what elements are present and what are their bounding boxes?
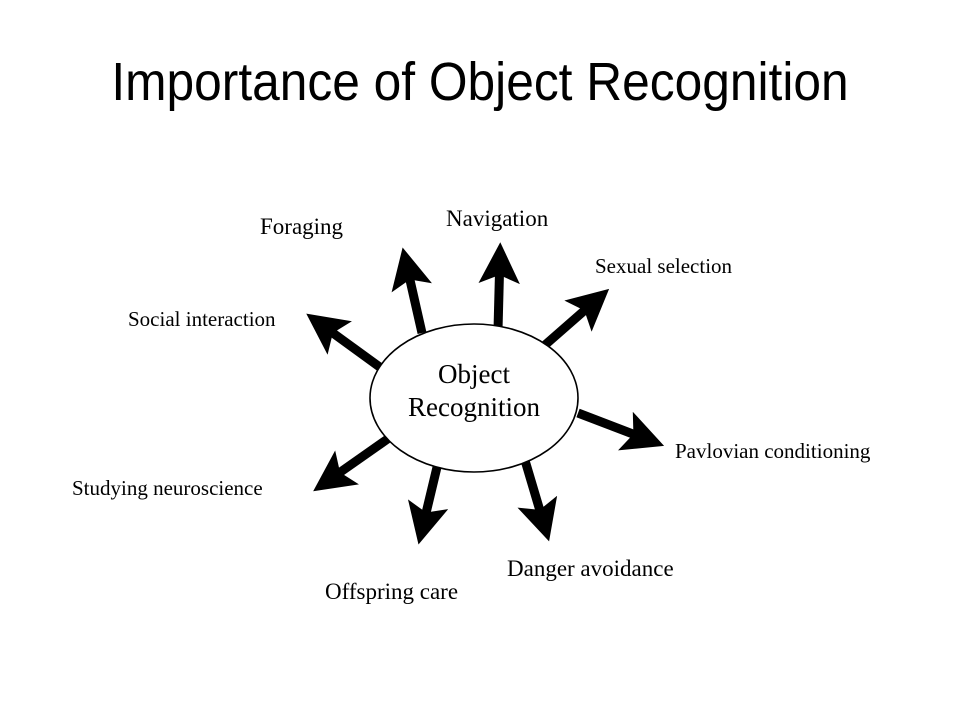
center-node-label-line2: Recognition: [374, 391, 574, 424]
arrow-danger-avoidance: [524, 457, 546, 531]
label-navigation: Navigation: [446, 207, 548, 232]
slide-canvas: Importance of Object Recognition Object …: [0, 0, 960, 720]
label-social-interaction: Social interaction: [128, 308, 276, 331]
label-pavlovian-conditioning: Pavlovian conditioning: [675, 440, 870, 463]
center-node-label: Object Recognition: [374, 358, 574, 424]
label-danger-avoidance: Danger avoidance: [507, 557, 674, 582]
label-sexual-selection: Sexual selection: [595, 255, 732, 278]
label-foraging: Foraging: [260, 215, 343, 240]
arrow-studying-neuroscience: [322, 438, 389, 485]
label-offspring-care: Offspring care: [325, 580, 458, 605]
arrow-sexual-selection: [537, 296, 601, 352]
arrow-foraging: [405, 258, 422, 333]
label-studying-neuroscience: Studying neuroscience: [72, 477, 263, 500]
arrow-offspring-care: [421, 463, 438, 534]
center-node-label-line1: Object: [374, 358, 574, 391]
arrow-navigation: [498, 253, 500, 330]
arrow-pavlovian-conditioning: [578, 413, 654, 442]
arrow-social-interaction: [315, 320, 381, 368]
